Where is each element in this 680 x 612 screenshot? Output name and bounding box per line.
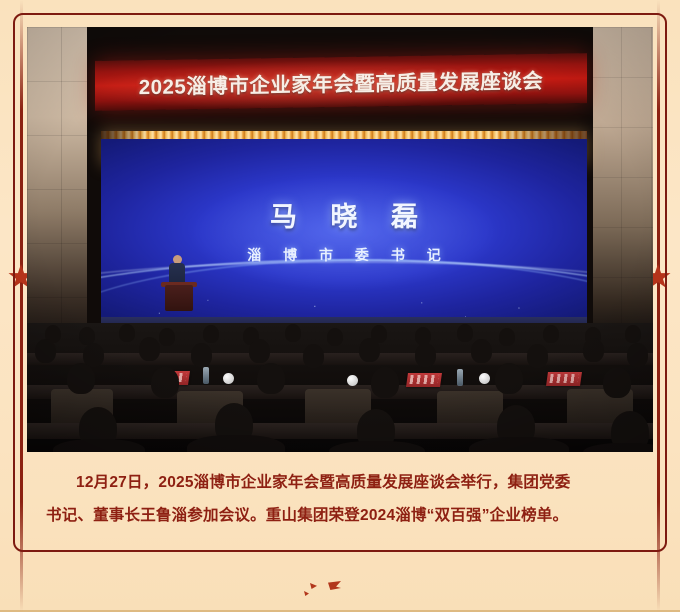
audience-head — [625, 325, 641, 343]
hall-wall-left — [27, 27, 93, 327]
audience-head — [35, 339, 56, 363]
tea-cup — [223, 373, 234, 384]
audience-head — [67, 363, 95, 394]
water-bottle — [457, 369, 463, 386]
flourish-part-c — [328, 581, 341, 590]
stage-banner: 2025淄博市企业家年会暨高质量发展座谈会 — [95, 53, 587, 111]
audience-head — [457, 324, 473, 342]
tea-cup — [479, 373, 490, 384]
podium — [165, 285, 193, 311]
foreground-shoulders — [53, 439, 145, 452]
audience-head — [359, 338, 380, 362]
tea-cup — [347, 375, 358, 386]
caption-line-2: 书记、董事长王鲁淄参加会议。重山集团荣登2024淄博“双百强”企业榜单。 — [46, 499, 636, 532]
audience-head — [191, 343, 212, 367]
water-bottle — [203, 367, 209, 384]
audience-head — [499, 328, 515, 346]
audience-head — [327, 328, 343, 346]
audience-head — [119, 324, 135, 342]
audience-head — [471, 339, 492, 363]
article-caption: 12月27日，2025淄博市企业家年会暨高质量发展座谈会举行，集团党委 书记、董… — [46, 466, 636, 532]
audience-head — [257, 363, 285, 394]
audience-head — [495, 363, 523, 394]
audience-head — [543, 325, 559, 343]
audience-head — [371, 367, 399, 398]
flourish-icon — [302, 581, 362, 599]
conference-photo: 2025淄博市企业家年会暨高质量发展座谈会 马 晓 磊 淄 博 市 委 书 记 — [27, 27, 653, 452]
flourish-part-b — [304, 591, 309, 596]
conference-table-row — [27, 423, 653, 439]
conference-table-row — [27, 353, 653, 365]
chair-back — [437, 391, 503, 425]
table-name-card — [546, 372, 582, 386]
audience-head — [249, 339, 270, 363]
caption-line-1: 12月27日，2025淄博市企业家年会暨高质量发展座谈会举行，集团党委 — [46, 466, 636, 499]
audience-head — [159, 328, 175, 346]
foreground-shoulders — [187, 435, 285, 452]
audience-head — [203, 325, 219, 343]
foreground-shoulders — [469, 437, 569, 452]
audience-head — [415, 343, 436, 367]
article-card: 2025淄博市企业家年会暨高质量发展座谈会 马 晓 磊 淄 博 市 委 书 记 — [0, 0, 680, 612]
audience-head — [627, 343, 648, 367]
audience-head — [151, 367, 179, 398]
audience-head — [603, 367, 631, 398]
audience-head — [139, 337, 160, 361]
audience-head — [527, 344, 548, 368]
flourish-part-a — [310, 583, 317, 589]
audience-head — [285, 324, 301, 342]
hall-wall-right — [591, 27, 653, 327]
audience-area — [27, 323, 653, 452]
audience-head — [303, 344, 324, 368]
audience-head — [583, 338, 604, 362]
stage-banner-text: 2025淄博市企业家年会暨高质量发展座谈会 — [95, 53, 587, 111]
foreground-shoulders — [329, 441, 425, 452]
foreground-shoulders — [583, 443, 653, 452]
slide-speaker-name: 马 晓 磊 — [101, 195, 587, 234]
table-name-card — [406, 373, 442, 387]
